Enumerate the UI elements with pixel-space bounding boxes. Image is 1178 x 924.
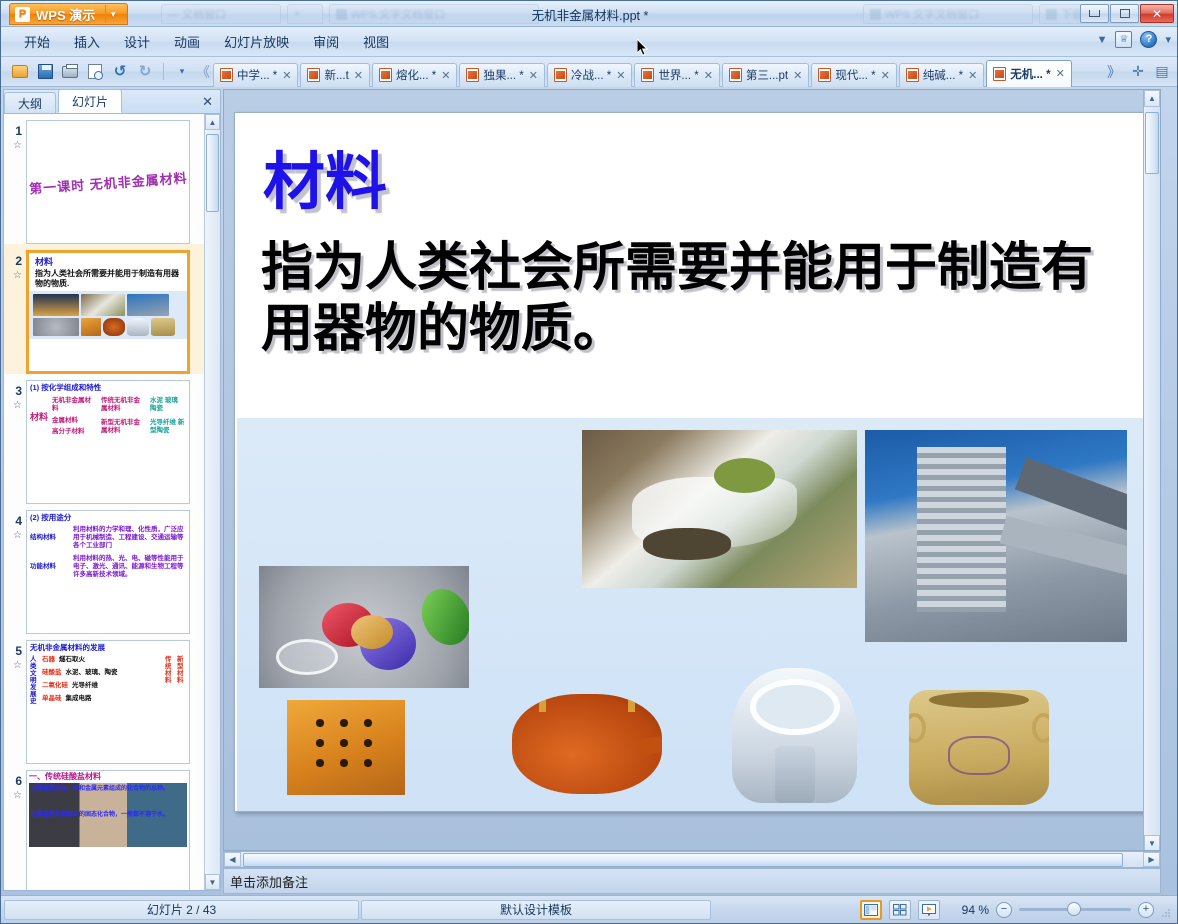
close-icon[interactable]: ✕ [615,69,626,82]
wps-logo-icon: P [15,7,30,22]
presentation-file-icon [307,68,320,82]
thumb3-line-7: 光导纤维 新型陶瓷 [150,419,186,435]
thumbnail-number-group: 6 ☆ [6,770,26,801]
thumbnail-item-4[interactable]: 4 ☆ (2) 按用途分 结构材料 利用材料的力学和理、化性质，广泛应用于机械制… [4,504,220,634]
doc-tab-label: 现代... * [835,67,875,83]
thumb5-line-7: 单晶硅 [42,695,62,703]
thumb3-line-0: 材料 [30,413,48,421]
normal-view-button[interactable] [860,900,882,920]
presentation-file-icon [554,68,567,82]
animation-star-icon: ☆ [6,530,22,541]
thumb4-content: (2) 按用途分 结构材料 利用材料的力学和理、化性质，广泛应用于机械制造、工程… [27,511,189,582]
slideshow-icon [922,904,936,916]
slide-edit-area[interactable]: 材料 指为人类社会所需要并能用于制造有用器物的物质。 [223,89,1161,851]
scrollbar-thumb[interactable] [206,134,219,212]
quick-access-toolbar: ↺ ↻ ▾ [1,61,193,83]
photo-jar[interactable] [909,690,1049,805]
status-bar-right: 94 % − + [860,900,1171,920]
close-icon[interactable]: ✕ [1055,67,1066,80]
thumb3-line-3: 高分子材料 [52,428,97,436]
chevron-down-icon[interactable]: ▼ [105,5,120,23]
close-icon[interactable]: ✕ [703,69,714,82]
open-icon[interactable] [9,61,31,83]
doc-tab-7[interactable]: 现代... * ✕ [811,63,896,87]
close-icon[interactable]: ✕ [440,69,451,82]
photo-brick[interactable] [287,700,405,795]
close-icon[interactable]: ✕ [528,69,539,82]
thumbnail-number-group: 5 ☆ [6,640,26,671]
title-bar: P WPS 演示 ▼ — 文档窗口 × WPS 文字文档窗口 WPS 文字文档窗… [1,1,1178,27]
doc-tab-4[interactable]: 冷战... * ✕ [547,63,632,87]
doc-tab-label: 新...t [324,67,348,83]
thumbnail-preview[interactable]: (1) 按化学组成和特性 材料 无机非金属材料 金属材料 高分子材料 传统无机非… [26,380,190,504]
restore-button[interactable] [1110,4,1139,23]
thumb3-line-5: 新型无机非金属材料 [101,419,146,435]
tabs-scroll-right-icon[interactable]: 》 [1105,63,1123,81]
help-dropdown-icon[interactable]: ▾ [1165,33,1171,46]
close-icon[interactable]: ✕ [281,69,292,82]
thumb3-line-6: 水泥 玻璃 陶瓷 [150,397,186,413]
thumbnail-number: 2 [15,254,22,268]
thumb5-line-9: 传统材料 [165,656,174,705]
thumb5-line-3: 硅酸盐 [42,669,62,677]
doc-tab-0[interactable]: 中学... * ✕ [213,63,298,87]
thumbnail-item-2[interactable]: 2 ☆ 材料 指为人类社会所需要并能用于制造有用器物的物质. [4,244,220,374]
thumbnail-number: 3 [15,384,22,398]
undo-icon[interactable]: ↺ [109,61,131,83]
thumb5-line-2: 燧石取火 [59,656,85,664]
tabs-scroll-left-icon[interactable]: 《 [193,61,213,83]
animation-star-icon: ☆ [6,660,22,671]
thumbnail-item-5[interactable]: 5 ☆ 无机非金属材料的发展 人类文明发展史 石器燧石取火 硅酸盐水泥、玻璃、陶… [4,634,220,764]
photo-toilet[interactable] [732,668,857,803]
thumb3-content: (1) 按化学组成和特性 材料 无机非金属材料 金属材料 高分子材料 传统无机非… [27,381,189,439]
doc-tab-label: 世界... * [658,67,698,83]
scrollbar-thumb[interactable] [1145,112,1159,174]
presentation-file-icon [379,68,392,82]
zoom-in-button[interactable]: + [1138,902,1154,918]
thumb4-line-1: 利用材料的力学和理、化性质，广泛应用于机械制造、工程建设、交通运输等各个工业部门 [73,526,186,550]
background-tab: WPS 文字文档窗口 [329,4,539,24]
thumbnail-preview[interactable]: 第一课时 无机非金属材料 [26,120,190,244]
menu-item-insert[interactable]: 插入 [63,28,111,55]
close-icon[interactable]: ✕ [880,69,891,82]
doc-tab-5[interactable]: 世界... * ✕ [634,63,719,87]
status-bar: 幻灯片 2 / 43 默认设计模板 [1,895,1178,923]
close-icon[interactable]: ✕ [353,69,364,82]
help-icon[interactable]: ? [1140,31,1157,48]
doc-tab-9-active[interactable]: 无机... * ✕ [986,60,1071,87]
photo-waterfall[interactable] [582,430,857,588]
doc-tab-1[interactable]: 新...t ✕ [300,63,370,87]
thumbnail-preview[interactable]: 无机非金属材料的发展 人类文明发展史 石器燧石取火 硅酸盐水泥、玻璃、陶瓷 二氧… [26,640,190,764]
close-pane-icon[interactable]: ✕ [202,94,213,110]
wps-presentation-window: P WPS 演示 ▼ — 文档窗口 × WPS 文字文档窗口 WPS 文字文档窗… [0,0,1178,924]
thumb5-line-8: 集成电路 [66,695,92,703]
pane-tab-strip: 大纲 幻灯片 ✕ [4,90,220,114]
animation-star-icon: ☆ [6,270,22,281]
background-tab: × [287,4,323,24]
redo-icon[interactable]: ↻ [134,61,156,83]
slide-navigator-pane: 大纲 幻灯片 ✕ 1 ☆ 第一课时 无机非金属材料 2 ☆ [3,89,221,891]
thumb1-title: 第一课时 无机非金属材料 [28,167,188,197]
scroll-up-icon[interactable]: ▲ [1144,90,1160,107]
thumb3-line-2: 金属材料 [52,417,97,425]
thumb2-title: 材料 [29,253,187,268]
slide-horizontal-scrollbar[interactable]: ◀ ▶ [223,851,1161,868]
thumb6-line-0: 硅酸盐是由硅、氧和金属元素组成的化合物的总称。 [31,785,185,793]
slide-thumbnail-list[interactable]: 1 ☆ 第一课时 无机非金属材料 2 ☆ 材料 指为人类社会所需要并能用于制造有… [4,114,220,890]
thumb4-title: (2) 按用途分 [30,514,186,522]
design-template-label[interactable]: 默认设计模板 [361,900,711,920]
doc-tab-label: 独果... * [483,67,523,83]
current-slide-canvas[interactable]: 材料 指为人类社会所需要并能用于制造有用器物的物质。 [234,112,1146,812]
presentation-file-icon [993,67,1006,81]
thumb5-content: 无机非金属材料的发展 人类文明发展史 石器燧石取火 硅酸盐水泥、玻璃、陶瓷 二氧… [27,641,189,708]
window-controls: ✕ [1080,4,1174,23]
thumb4-line-2: 功能材料 [30,555,70,579]
background-tab: — 文档窗口 [161,4,281,24]
presentation-file-icon [220,68,233,82]
menu-bar-right-tools: ▼ ♕ ? ▾ [1097,31,1171,48]
toolbar-and-document-tabs: ↺ ↻ ▾ 《 中学... * ✕ 新...t ✕ 熔化... * ✕ [1,57,1178,87]
notes-placeholder: 单击添加备注 [230,872,308,891]
doc-tab-label: 冷战... * [571,67,611,83]
doc-tab-label: 中学... * [237,67,277,83]
slide-body-text[interactable]: 指为人类社会所需要并能用于制造有用器物的物质。 [261,238,1121,361]
thumb5-line-4: 水泥、玻璃、陶瓷 [66,669,118,677]
presentation-file-icon [729,68,742,82]
menu-item-animation[interactable]: 动画 [163,28,211,55]
scroll-down-icon[interactable]: ▼ [1144,835,1160,851]
close-button[interactable]: ✕ [1140,4,1174,23]
document-tab-strip: 中学... * ✕ 新...t ✕ 熔化... * ✕ 独果... * ✕ 冷战… [213,57,1101,87]
menu-bar: 开始 插入 设计 动画 幻灯片放映 审阅 视图 ▼ ♕ ? ▾ [1,27,1178,57]
photo-cement-plant[interactable] [865,430,1127,642]
doc-tab-6[interactable]: 第三...pt ✕ [722,63,809,87]
thumbnail-item-3[interactable]: 3 ☆ (1) 按化学组成和特性 材料 无机非金属材料 金属材料 高分子材料 [4,374,220,504]
print-preview-icon[interactable] [84,61,106,83]
thumbnail-preview[interactable]: 一、传统硅酸盐材料 硅酸盐是由硅、氧和金属元素组成的化合物的总称。 硅酸盐是结构… [26,770,190,890]
close-icon[interactable]: ✕ [967,69,978,82]
slide-counter: 幻灯片 2 / 43 [4,900,359,920]
tab-list-icon[interactable]: ▤ [1153,63,1171,81]
photo-glass-rings[interactable] [259,566,469,688]
scrollbar-thumb-horizontal[interactable] [243,853,1123,867]
tab-strip-tools: 》 ✛ ▤ [1101,63,1178,81]
tab-slides[interactable]: 幻灯片 [58,89,122,113]
scroll-right-icon[interactable]: ▶ [1143,852,1160,867]
thumb5-title: 无机非金属材料的发展 [30,644,186,652]
presentation-file-icon [641,68,654,82]
animation-star-icon: ☆ [6,400,22,411]
thumbnail-preview[interactable]: (2) 按用途分 结构材料 利用材料的力学和理、化性质，广泛应用于机械制造、工程… [26,510,190,634]
thumb3-title: (1) 按化学组成和特性 [30,384,186,392]
thumb2-body: 指为人类社会所需要并能用于制造有用器物的物质. [29,268,187,289]
thumbnail-number-group: 3 ☆ [6,380,26,411]
minimize-button[interactable] [1080,4,1109,23]
thumb2-photo-grid [29,291,187,339]
zoom-out-button[interactable]: − [996,902,1012,918]
wps-app-button-label: WPS 演示 [36,5,95,24]
thumbnail-number-group: 2 ☆ [6,250,26,281]
customize-toolbar-icon[interactable]: ▾ [171,61,193,83]
slide-photo-collage [237,418,1145,811]
thumb6-line-1: 硅酸盐是结构复杂的固态化合物，一般都不溶于水。 [31,811,185,819]
doc-tab-label: 熔化... * [396,67,436,83]
menu-item-slideshow[interactable]: 幻灯片放映 [213,28,300,55]
wps-app-button[interactable]: P WPS 演示 ▼ [9,3,128,25]
close-icon[interactable]: ✕ [792,69,803,82]
photo-teapot[interactable] [512,694,662,794]
thumbnail-number: 6 [15,774,22,788]
menu-item-start[interactable]: 开始 [13,28,61,55]
background-tab: WPS 文字文档窗口 [863,4,1033,24]
zoom-slider[interactable] [1019,908,1131,911]
notes-pane[interactable]: 单击添加备注 [223,868,1161,894]
thumbnail-number-group: 4 ☆ [6,510,26,541]
doc-tab-2[interactable]: 熔化... * ✕ [372,63,457,87]
chevron-down-icon[interactable]: ▼ [1097,34,1108,46]
zoom-level-label: 94 % [947,903,989,917]
thumbnail-number: 1 [15,124,22,138]
thumb4-line-3: 利用材料的热、光、电、磁等性能用于电子、激光、通讯、能源和生物工程等许多高新技术… [73,555,186,579]
thumbnail-number: 4 [15,514,22,528]
presentation-file-icon [466,68,479,82]
background-window-tabs: — 文档窗口 × WPS 文字文档窗口 WPS 文字文档窗口 下载的演示文稿.p… [161,4,1178,24]
thumb5-line-1: 石器 [42,656,55,664]
thumbnail-number-group: 1 ☆ [6,120,26,151]
presentation-file-icon [818,68,831,82]
thumb4-line-0: 结构材料 [30,526,70,550]
thumbnail-preview[interactable]: 材料 指为人类社会所需要并能用于制造有用器物的物质. [26,250,190,374]
menu-item-review[interactable]: 审阅 [302,28,350,55]
thumb5-line-6: 光导纤维 [72,682,98,690]
scroll-up-icon[interactable]: ▲ [205,114,220,130]
thumb6-content: 一、传统硅酸盐材料 硅酸盐是由硅、氧和金属元素组成的化合物的总称。 硅酸盐是结构… [27,771,189,849]
thumbnail-number: 5 [15,644,22,658]
slide-vertical-scrollbar[interactable]: ▲ ▼ [1143,90,1160,851]
doc-tab-3[interactable]: 独果... * ✕ [459,63,544,87]
animation-star-icon: ☆ [6,790,22,801]
doc-tab-label: 第三...pt [746,67,788,83]
thumb5-line-5: 二氧化硅 [42,682,68,690]
thumb5-line-10: 新型材料 [177,656,186,705]
save-icon[interactable] [34,61,56,83]
menu-item-design[interactable]: 设计 [113,28,161,55]
thumb3-line-4: 传统无机非金属材料 [101,397,146,413]
doc-tab-8[interactable]: 纯碱... * ✕ [899,63,984,87]
slide-title-text[interactable]: 材料 [263,131,387,221]
doc-tab-label: 无机... * [1010,66,1050,82]
thumbnail-scrollbar[interactable]: ▲ ▼ [204,114,220,890]
skin-icon[interactable]: ♕ [1115,31,1132,48]
animation-star-icon: ☆ [6,140,22,151]
thumb3-line-1: 无机非金属材料 [52,397,97,413]
menu-item-view[interactable]: 视图 [352,28,400,55]
slide-sorter-button[interactable] [889,900,911,920]
thumb5-line-0: 人类文明发展史 [30,656,39,705]
normal-view-icon [864,904,878,916]
zoom-slider-knob[interactable] [1067,902,1081,916]
scroll-down-icon[interactable]: ▼ [205,874,220,890]
slideshow-button[interactable] [918,900,940,920]
tab-outline[interactable]: 大纲 [4,92,56,113]
scroll-left-icon[interactable]: ◀ [224,852,241,867]
photo-desert[interactable] [259,436,579,556]
presentation-file-icon [906,68,919,82]
thumb6-title: 一、传统硅酸盐材料 [29,773,187,781]
print-icon[interactable] [59,61,81,83]
resize-grip[interactable] [1161,905,1171,915]
thumbnail-item-1[interactable]: 1 ☆ 第一课时 无机非金属材料 [4,114,220,244]
new-tab-icon[interactable]: ✛ [1129,63,1147,81]
doc-tab-label: 纯碱... * [923,67,963,83]
thumbnail-item-6[interactable]: 6 ☆ 一、传统硅酸盐材料 硅酸盐是由硅、氧和金属元素组成的化合物的总称。 硅酸… [4,764,220,890]
slide-sorter-icon [893,904,907,916]
